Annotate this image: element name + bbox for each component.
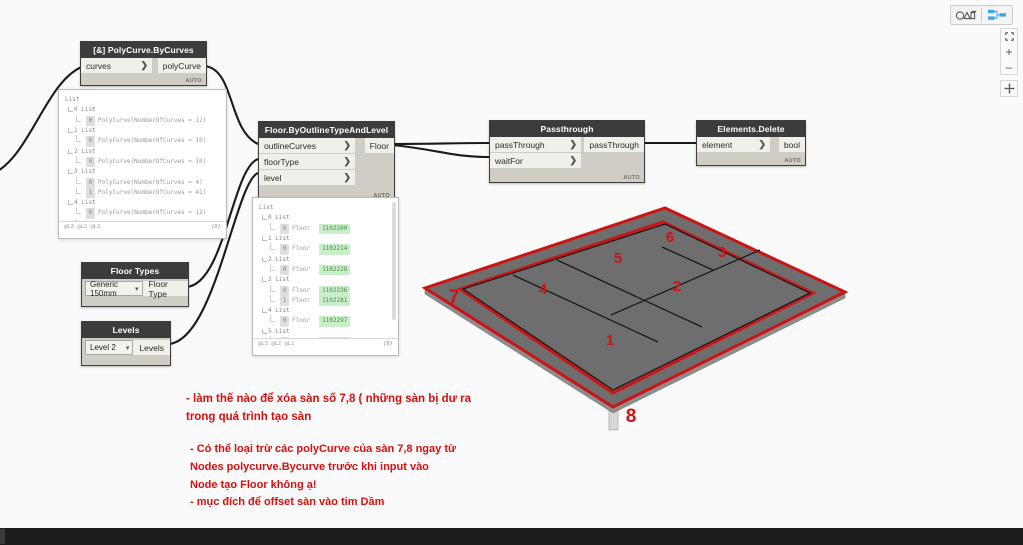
port-level[interactable]: level ❯	[259, 170, 355, 185]
preview-footer: @L3 @L2 @L1 {8}	[253, 338, 398, 351]
list-group: 0 List	[65, 105, 222, 115]
node-title: Levels	[82, 322, 170, 338]
annotation-line: trong quá trình tạo sàn	[186, 409, 526, 427]
element-id: 1102297	[319, 316, 350, 326]
list-item: 0 PolyCurve(NumberOfCurves = 12)	[65, 116, 222, 126]
port-bool-out[interactable]: bool	[779, 137, 805, 152]
view-mode-toolbar[interactable]	[950, 5, 1013, 25]
node-title: Floor.ByOutlineTypeAndLevel	[259, 122, 394, 138]
node-title: Passthrough	[490, 121, 644, 137]
preview-footer: @L3 @L2 @L1 {8}	[59, 221, 226, 234]
port-outlinecurves[interactable]: outlineCurves ❯	[259, 138, 355, 153]
node-polycurve-bycurves[interactable]: [&] PolyCurve.ByCurves curves ❯ polyCurv…	[80, 41, 207, 86]
chevron-down-icon: ▾	[135, 285, 139, 293]
list-group: 2 List	[259, 255, 394, 265]
panel-label-4: 4	[539, 281, 548, 298]
list-item: 0 PolyCurve(NumberOfCurves = 10)	[65, 136, 222, 146]
bottom-bar-accent	[0, 529, 5, 544]
chevron-right-icon: ❯	[758, 139, 766, 150]
node-levels[interactable]: Levels Level 2 ▾ Levels	[81, 321, 171, 366]
panel-label-3: 3	[718, 244, 726, 261]
auto-badge: AUTO	[623, 175, 640, 181]
list-item: 0 Floor 1102214	[259, 244, 394, 254]
list-item: 0 PolyCurve(NumberOfCurves = 10)	[65, 157, 222, 167]
panel-label-5: 5	[614, 250, 622, 267]
port-waitfor[interactable]: waitFor ❯	[490, 153, 581, 168]
pan-control-group[interactable]	[1000, 80, 1018, 97]
port-levels-out[interactable]: Levels	[133, 340, 170, 355]
list-item: 0 Floor 1102236	[259, 286, 394, 296]
view-controls[interactable]: + –	[1001, 28, 1017, 97]
geometry-view-button[interactable]	[951, 6, 981, 24]
node-passthrough[interactable]: Passthrough passThrough ❯ passThrough wa…	[489, 120, 645, 183]
chevron-right-icon: ❯	[569, 155, 577, 166]
element-id: 1102236	[319, 286, 350, 296]
list-item: 0 Floor 1102297	[259, 316, 394, 326]
auto-badge: AUTO	[185, 78, 202, 84]
list-group: 2 List	[65, 147, 222, 157]
element-id: 1102214	[319, 244, 350, 254]
list-item: 0 Floor 1102228	[259, 265, 394, 275]
annotation-line: Nodes polycurve.Bycurve trước khi input …	[190, 459, 530, 477]
chevron-right-icon: ❯	[569, 139, 577, 150]
list-item: 0 Floor 1102200	[259, 224, 394, 234]
element-id: 1102228	[319, 265, 350, 275]
element-id: 1102281	[319, 296, 350, 306]
annotation-line: - làm thế nào để xóa sàn số 7,8 ( những …	[186, 391, 526, 409]
list-item: 0 PolyCurve(NumberOfCurves = 12)	[65, 208, 222, 218]
annotation-block-2: - Có thể loại trừ các polyCurve của sàn …	[190, 441, 530, 512]
floor-preview-panel[interactable]: List 0 List 0 Floor 1102200 1 List 0 Flo…	[252, 197, 399, 356]
annotation-line: - Có thể loại trừ các polyCurve của sàn …	[190, 441, 530, 459]
bottom-status-bar	[0, 528, 1023, 545]
annotation-line: Node tạo Floor không ạ!	[190, 477, 530, 495]
graph-view-icon	[987, 9, 1007, 21]
node-elements-delete[interactable]: Elements.Delete element ❯ bool AUTO	[696, 120, 806, 166]
list-group: 3 List	[259, 275, 394, 285]
port-floortype[interactable]: floorType ❯	[259, 154, 355, 169]
panel-label-1: 1	[606, 332, 614, 349]
chevron-right-icon: ❯	[140, 60, 148, 71]
pan-icon	[1004, 83, 1015, 94]
element-id: 1102200	[319, 224, 350, 234]
panel-label-8: 8	[626, 406, 637, 427]
list-group: 4 List	[65, 198, 222, 208]
node-floor-byoutlinetypeandlevel[interactable]: Floor.ByOutlineTypeAndLevel outlineCurve…	[258, 121, 395, 201]
zoom-out-button[interactable]: –	[1001, 59, 1017, 74]
pan-button[interactable]	[1001, 81, 1017, 96]
polycurve-preview-panel[interactable]: List 0 List 0 PolyCurve(NumberOfCurves =…	[58, 89, 227, 239]
panel-label-7: 7	[449, 287, 460, 308]
port-element[interactable]: element ❯	[697, 137, 770, 152]
floor-type-dropdown[interactable]: Generic 150mm ▾	[85, 281, 143, 296]
node-title: Elements.Delete	[697, 121, 805, 137]
fit-to-screen-button[interactable]	[1001, 29, 1017, 44]
list-group: 3 List	[65, 167, 222, 177]
chevron-right-icon: ❯	[343, 172, 351, 183]
dynamo-canvas[interactable]: [&] PolyCurve.ByCurves curves ❯ polyCurv…	[0, 0, 1023, 545]
zoom-controls-group[interactable]: + –	[1000, 28, 1018, 75]
auto-badge: AUTO	[784, 158, 801, 164]
list-item: 1 Floor 1102281	[259, 296, 394, 306]
node-floor-types[interactable]: Floor Types Generic 150mm ▾ Floor Type	[81, 262, 189, 307]
panel-label-6: 6	[666, 229, 674, 246]
panel-label-2: 2	[673, 278, 681, 295]
list-item: 1 PolyCurve(NumberOfCurves = 41)	[65, 188, 222, 198]
node-title: [&] PolyCurve.ByCurves	[81, 42, 206, 58]
fit-to-screen-icon	[1005, 32, 1014, 41]
node-title: Floor Types	[82, 263, 188, 279]
list-group: 1 List	[259, 234, 394, 244]
level-dropdown[interactable]: Level 2 ▾	[85, 340, 133, 355]
zoom-in-button[interactable]: +	[1001, 44, 1017, 59]
list-group: 1 List	[65, 126, 222, 136]
geometry-view-icon	[956, 10, 976, 21]
chevron-down-icon: ▾	[126, 344, 130, 352]
port-passthrough-in[interactable]: passThrough ❯	[490, 137, 581, 152]
chevron-right-icon: ❯	[343, 156, 351, 167]
list-item: 0 PolyCurve(NumberOfCurves = 4)	[65, 178, 222, 188]
list-group: 5 List	[259, 327, 394, 337]
annotation-line: - mục đích để offset sàn vào tim Dầm	[190, 494, 530, 512]
port-polycurve-out[interactable]: polyCurve	[158, 58, 206, 73]
chevron-right-icon: ❯	[343, 140, 351, 151]
port-passthrough-out[interactable]: passThrough	[584, 137, 644, 152]
list-group: 4 List	[259, 306, 394, 316]
graph-view-button[interactable]	[982, 6, 1012, 24]
list-group: 0 List	[259, 213, 394, 223]
port-floortype-out[interactable]: Floor Type	[143, 281, 188, 296]
annotation-block-1: - làm thế nào để xóa sàn số 7,8 ( những …	[186, 391, 526, 427]
port-curves[interactable]: curves ❯	[81, 58, 152, 73]
port-floor-out[interactable]: Floor	[365, 138, 394, 153]
